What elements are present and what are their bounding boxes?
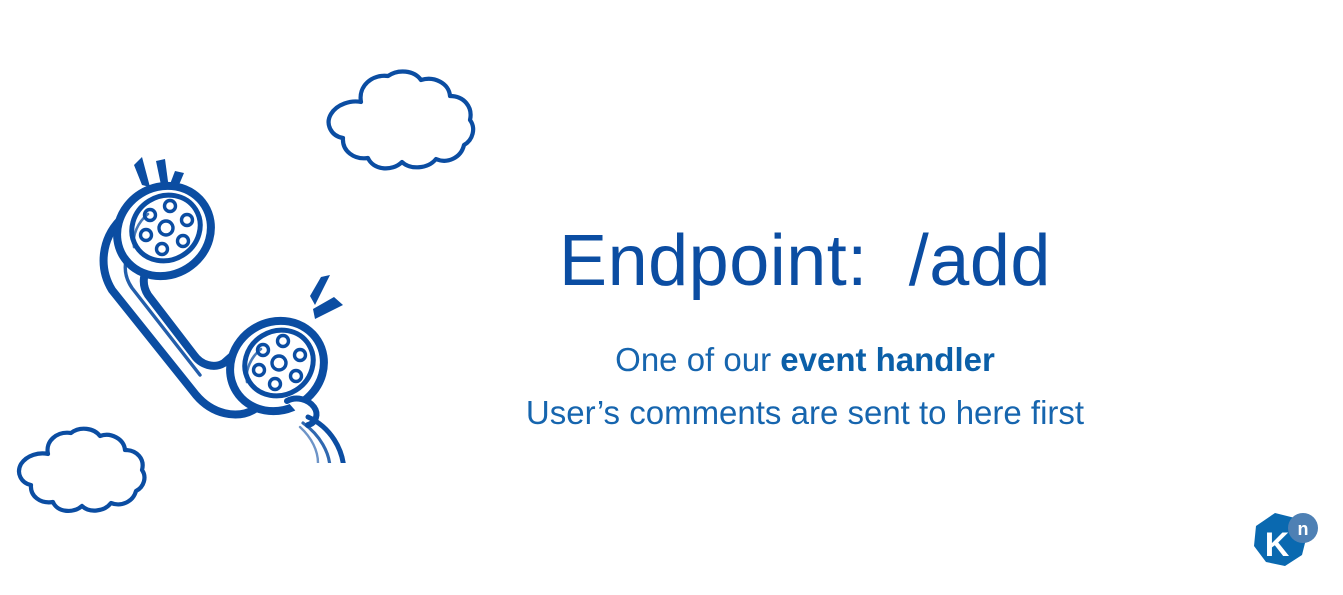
cloud-illustration-bottom <box>12 424 148 522</box>
subtitle-emphasis: event handler <box>780 341 995 378</box>
speaker-holes-bottom <box>254 336 306 390</box>
logo-letter-k: K <box>1265 526 1290 564</box>
cloud-illustration-top <box>318 66 478 182</box>
slide-canvas: Endpoint: /add One of our event handler … <box>0 0 1343 595</box>
speaker-holes-top <box>141 201 193 255</box>
motion-lines-bottom <box>310 275 343 319</box>
page-title: Endpoint: /add <box>440 225 1170 297</box>
subtitle-prefix: One of our <box>615 341 780 378</box>
subtitle-line-2: User’s comments are sent to here first <box>440 396 1170 429</box>
subtitle-line-1: One of our event handler <box>440 343 1170 376</box>
motion-lines-top <box>134 157 196 209</box>
slide-text-block: Endpoint: /add One of our event handler … <box>440 225 1170 429</box>
logo-letter-n: n <box>1298 519 1309 539</box>
brand-logo: K n <box>1247 508 1319 580</box>
telephone-handset-illustration <box>72 143 372 463</box>
